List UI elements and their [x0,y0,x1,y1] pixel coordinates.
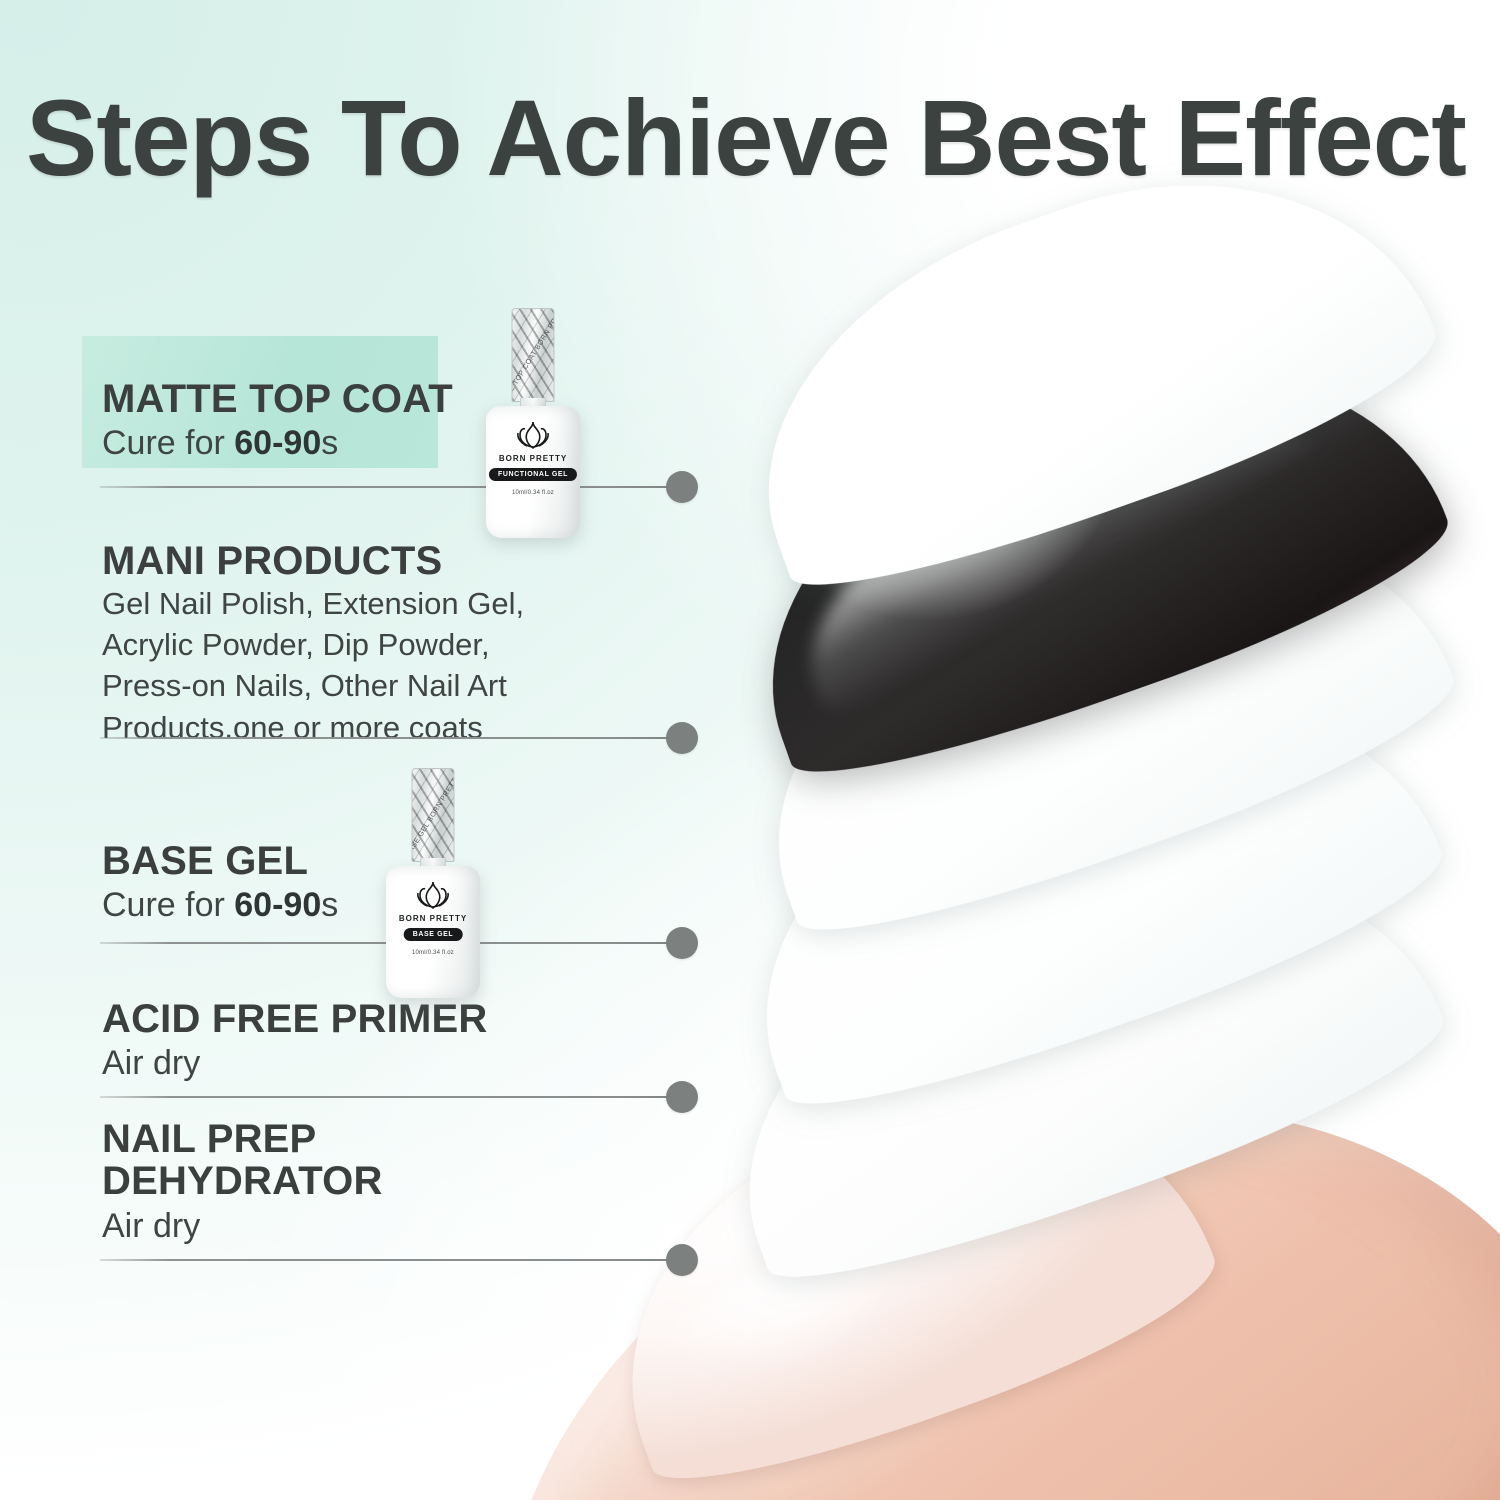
bottle-cap-text: MATTE TOP COAT BORN PRETTY [512,313,555,397]
step-subtext-suffix: s [321,424,338,462]
nail-layer-3 [712,448,1472,964]
nail-layer-black-color-coat [706,290,1466,806]
bottle-product-label: BASE GEL [404,928,463,941]
connector-line-5 [100,1259,682,1261]
bottle-cap: MATTE TOP COAT BORN PRETTY [512,308,555,402]
step-body-line-4: Products.one or more coats [102,708,524,747]
bottle-cap: BASE GEL BORN PRETTY [412,768,455,862]
step-acid-free-primer[interactable]: ACID FREE PRIMER Air dry [102,998,487,1084]
connector-dot-2[interactable] [666,722,698,754]
nail-layer-5 [683,788,1462,1311]
step-subtext: Air dry [102,1207,383,1246]
step-matte-top-coat[interactable]: MATTE TOP COAT Cure for 60-90s [102,378,453,464]
product-bottle-matte-top-coat: MATTE TOP COAT BORN PRETTY BORN PRETTY F… [486,308,580,483]
step-subtext: Cure for 60-90s [102,424,453,463]
connector-line-2 [100,737,682,739]
step-heading-line-2: DEHYDRATOR [102,1160,383,1202]
step-subtext-strong: 60-90 [234,886,321,924]
nail-layer-4 [700,622,1460,1138]
step-body-line-1: Gel Nail Polish, Extension Gel, [102,584,524,623]
bottle-volume: 10ml/0.34 fl.oz [486,490,580,496]
bottle-volume: 10ml/0.34 fl.oz [386,950,480,956]
step-body-line-2: Acrylic Powder, Dip Powder, [102,625,524,664]
step-heading-line-1: NAIL PREP [102,1118,383,1160]
bottle-product-label: FUNCTIONAL GEL [489,468,577,481]
step-heading: MATTE TOP COAT [102,378,453,420]
steps-list: MATTE TOP COAT Cure for 60-90s MANI PROD… [0,0,760,1500]
step-heading: BASE GEL [102,840,338,882]
bottle-brand: BORN PRETTY [486,454,580,463]
step-subtext: Cure for 60-90s [102,886,338,925]
step-base-gel[interactable]: BASE GEL Cure for 60-90s [102,840,338,926]
bottle-cap-text: BASE GEL BORN PRETTY [412,773,455,857]
born-pretty-flower-logo-icon [510,416,556,450]
step-body-line-3: Press-on Nails, Other Nail Art [102,666,524,705]
infographic-canvas: Steps To Achieve Best Effect MATTE TOP C… [0,0,1500,1500]
step-subtext-strong: 60-90 [234,424,321,462]
bottle-brand: BORN PRETTY [386,914,480,923]
born-pretty-flower-logo-icon [410,876,456,910]
step-nail-prep-dehydrator[interactable]: NAIL PREP DEHYDRATOR Air dry [102,1118,383,1246]
connector-dot-3[interactable] [666,927,698,959]
connector-dot-4[interactable] [666,1081,698,1113]
step-heading: MANI PRODUCTS [102,540,524,582]
connector-line-4 [100,1096,682,1098]
step-subtext-prefix: Cure for [102,886,234,924]
step-subtext: Air dry [102,1044,487,1083]
connector-dot-1[interactable] [666,471,698,503]
step-heading: ACID FREE PRIMER [102,998,487,1040]
product-bottle-base-gel: BASE GEL BORN PRETTY BORN PRETTY BASE GE… [386,768,480,943]
connector-dot-5[interactable] [666,1244,698,1276]
connector-line-1 [100,486,682,488]
step-mani-products[interactable]: MANI PRODUCTS Gel Nail Polish, Extension… [102,540,524,747]
step-subtext-prefix: Cure for [102,424,234,462]
step-subtext-suffix: s [321,886,338,924]
